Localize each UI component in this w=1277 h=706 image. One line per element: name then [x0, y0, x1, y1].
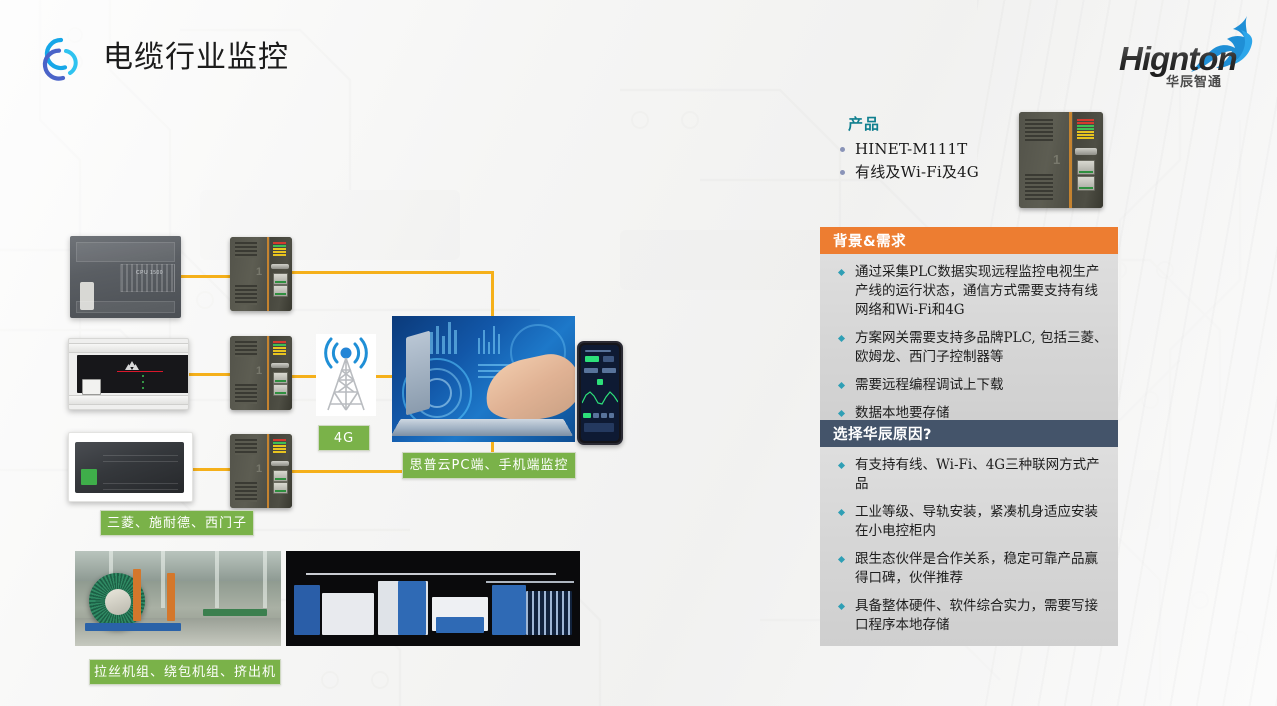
- mobile-monitoring-app-photo: [577, 341, 623, 445]
- panel-body-why-huachen: 有支持有线、Wi-Fi、4G三种联网方式产品 工业等级、导轨安装，紧凑机身适应安…: [820, 447, 1118, 646]
- tag-cloud-monitoring: 思普云PC端、手机端监控: [402, 452, 576, 479]
- product-item-connectivity: 有线及Wi-Fi及4G: [838, 161, 1038, 184]
- cloud-dashboard-laptop-photo: [392, 316, 575, 442]
- gateway-bottom: 1: [230, 434, 292, 508]
- tag-machines: 拉丝机组、绕包机组、挤出机: [89, 659, 281, 685]
- list-item: 通过采集PLC数据实现远程监控电视生产产线的运行状态，通信方式需要支持有线网络和…: [820, 263, 1108, 320]
- wire-mitsubishi-to-gateway: [186, 373, 232, 376]
- product-heading: 产品: [848, 113, 1038, 134]
- cable-loop-logo-icon: [36, 33, 88, 85]
- hinet-m111t-gateway-photo: 1: [1019, 112, 1103, 208]
- wire-gateway-mid-to-tower: [290, 375, 316, 378]
- list-item: 跟生态伙伴是合作关系，稳定可靠产品赢得口碑，伙伴推荐: [820, 550, 1108, 588]
- slide-header: 电缆行业监控 Hignton 华辰智通: [0, 0, 1277, 112]
- wire-gateway-top-out: [290, 271, 494, 274]
- list-item: 方案网关需要支持多品牌PLC, 包括三菱、欧姆龙、西门子控制器等: [820, 329, 1108, 367]
- panel-body-background-requirements: 通过采集PLC数据实现远程监控电视生产产线的运行状态，通信方式需要支持有线网络和…: [820, 254, 1118, 434]
- extrusion-line-photo: [286, 551, 580, 646]
- tag-4g: 4G: [318, 425, 370, 451]
- wire-schneider-to-gateway: [190, 468, 232, 471]
- schneider-plc: [68, 432, 193, 502]
- mitsubishi-plc: [68, 338, 189, 410]
- cable-winding-machine-photo: [75, 551, 281, 646]
- siemens-plc: CPU 1500: [70, 236, 181, 318]
- phone-waveform-icon: [582, 389, 618, 407]
- wire-siemens-to-gateway: [180, 275, 232, 278]
- brand-logo: Hignton 华辰智通: [1119, 18, 1259, 92]
- panel-why-huachen: 选择华辰原因? 有支持有线、Wi-Fi、4G三种联网方式产品 工业等级、导轨安装…: [820, 420, 1118, 646]
- product-block: 产品 HINET-M111T 有线及Wi-Fi及4G: [838, 113, 1038, 184]
- panel-header-why-huachen: 选择华辰原因?: [820, 420, 1118, 447]
- list-item: 有支持有线、Wi-Fi、4G三种联网方式产品: [820, 456, 1108, 494]
- cell-tower-icon: [316, 334, 376, 416]
- gateway-top: 1: [230, 237, 292, 311]
- product-list: HINET-M111T 有线及Wi-Fi及4G: [838, 138, 1038, 184]
- slide-root: 电缆行业监控 Hignton 华辰智通 产品 HINET-M111T 有线及Wi…: [0, 0, 1277, 706]
- tag-plc-brands: 三菱、施耐德、西门子: [100, 510, 254, 536]
- list-item: 需要远程编程调试上下载: [820, 376, 1108, 395]
- list-item: 工业等级、导轨安装，紧凑机身适应安装在小电控柜内: [820, 503, 1108, 541]
- brand-wordmark-cn: 华辰智通: [1166, 71, 1222, 90]
- panel-header-background-requirements: 背景&需求: [820, 227, 1118, 254]
- list-item: 具备整体硬件、软件综合实力，需要写接口程序本地存储: [820, 597, 1108, 635]
- gateway-middle: 1: [230, 336, 292, 410]
- mitsubishi-logo-icon: [125, 361, 139, 370]
- product-item-model: HINET-M111T: [838, 138, 1038, 161]
- panel-background-requirements: 背景&需求 通过采集PLC数据实现远程监控电视生产产线的运行状态，通信方式需要支…: [820, 227, 1118, 434]
- page-title: 电缆行业监控: [103, 36, 289, 80]
